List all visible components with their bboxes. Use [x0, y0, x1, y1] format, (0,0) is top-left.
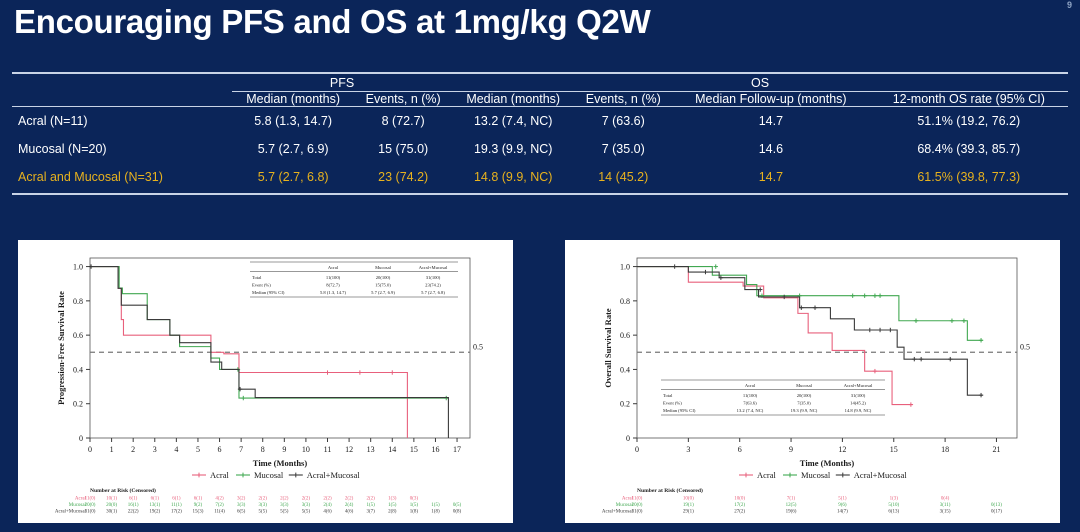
row-0-cell-5: 14.7 — [672, 107, 869, 136]
risk-value: 11(1) — [171, 503, 182, 508]
os-kaplan-meier-chart: 00.20.40.60.81.0036912151821Time (Months… — [565, 240, 1060, 523]
risk-value: 13(1) — [149, 503, 160, 508]
risk-value: 5(5) — [302, 510, 311, 515]
risk-table-title: Number at Risk (Censored) — [637, 487, 703, 494]
risk-value: 2(8) — [388, 510, 397, 515]
x-tick-label: 11 — [324, 445, 332, 454]
risk-value: 2(2) — [367, 497, 376, 502]
risk-value: 1(3) — [890, 497, 899, 502]
risk-value: 6(1) — [129, 497, 138, 502]
risk-value: 9(2) — [194, 503, 203, 508]
risk-value: 17(2) — [171, 510, 182, 515]
risk-value: 17(2) — [734, 503, 745, 508]
risk-value: 16(1) — [128, 503, 139, 508]
risk-value: 12(5) — [786, 503, 797, 508]
row-2-cell-3: 14.8 (9.9, NC) — [452, 163, 574, 191]
y-tick-label: 0.2 — [620, 400, 630, 409]
risk-value: 6(13) — [888, 510, 899, 515]
x-axis-label: Time (Months) — [253, 458, 308, 468]
risk-value: 20(0) — [632, 503, 643, 508]
inset-cell: 7(35.0) — [797, 401, 811, 406]
x-tick-label: 9 — [789, 445, 793, 454]
risk-value: 0(3) — [410, 497, 419, 502]
y-tick-label: 1.0 — [620, 263, 630, 272]
inset-cell: 11(100) — [743, 393, 758, 398]
group-header-spacer — [12, 76, 232, 90]
median-reference-label: 0.5 — [1020, 342, 1030, 351]
inset-column-header: Acral — [745, 383, 756, 388]
inset-column-header: Acral+Mucosal — [844, 383, 873, 388]
risk-value: 5(1) — [838, 497, 847, 502]
row-2-cell-6: 61.5% (39.8, 77.3) — [870, 163, 1068, 191]
x-tick-label: 1 — [110, 445, 114, 454]
risk-value: 3(15) — [940, 510, 951, 515]
table-row: Acral (N=11) 5.8 (1.3, 14.7) 8 (72.7) 13… — [12, 107, 1068, 136]
risk-value: 30(1) — [106, 510, 117, 515]
row-0-cell-0: Acral (N=11) — [12, 107, 232, 136]
column-header-3: Median (months) — [452, 91, 574, 106]
legend-label-acral: Acral — [757, 470, 777, 480]
column-header-5: Median Follow-up (months) — [672, 91, 869, 106]
risk-value: 1(3) — [388, 497, 397, 502]
y-axis-label: Progression-Free Survival Rate — [56, 291, 66, 405]
x-tick-label: 8 — [261, 445, 265, 454]
x-tick-label: 17 — [453, 445, 461, 454]
risk-value: 6(1) — [151, 497, 160, 502]
results-table: PFS OS Median (months) Events, n (%) Med… — [12, 72, 1068, 195]
risk-value: 1(5) — [388, 503, 397, 508]
risk-value: 3(11) — [940, 503, 951, 508]
column-header-4: Events, n (%) — [574, 91, 672, 106]
row-0-cell-3: 13.2 (7.4, NC) — [452, 107, 574, 136]
inset-cell: 20(100) — [797, 393, 812, 398]
x-tick-label: 12 — [838, 445, 846, 454]
risk-value: 31(0) — [85, 510, 96, 515]
risk-value: 10(0) — [734, 497, 745, 502]
risk-value: 5(5) — [280, 510, 289, 515]
column-header-0 — [12, 91, 232, 106]
results-table-container: PFS OS Median (months) Events, n (%) Med… — [12, 72, 1068, 195]
risk-value: 20(0) — [106, 503, 117, 508]
y-tick-label: 0.6 — [620, 331, 630, 340]
row-2-cell-5: 14.7 — [672, 163, 869, 191]
inset-column-header: Acral — [328, 265, 339, 270]
column-header-2: Events, n (%) — [354, 91, 452, 106]
risk-value: 3(3) — [302, 503, 311, 508]
risk-value: 3(3) — [259, 503, 268, 508]
y-axis-label: Overall Survival Rate — [603, 308, 613, 388]
inset-row-label: Event (%) — [663, 401, 682, 406]
row-2-cell-0: Acral and Mucosal (N=31) — [12, 163, 232, 191]
x-tick-label: 7 — [239, 445, 243, 454]
risk-value: 4(6) — [323, 510, 332, 515]
risk-table-title: Number at Risk (Censored) — [90, 487, 156, 494]
risk-value: 10(1) — [106, 497, 117, 502]
risk-value: 7(2) — [215, 503, 224, 508]
risk-value: 1(5) — [431, 503, 440, 508]
risk-value: 6(5) — [237, 510, 246, 515]
risk-value: 5(5) — [259, 510, 268, 515]
risk-value: 19(1) — [683, 503, 694, 508]
y-tick-label: 0.4 — [73, 365, 83, 374]
risk-value: 3(3) — [237, 503, 246, 508]
table-row: Mucosal (N=20) 5.7 (2.7, 6.9) 15 (75.0) … — [12, 135, 1068, 163]
risk-value: 0(8) — [453, 510, 462, 515]
x-tick-label: 9 — [282, 445, 286, 454]
x-tick-label: 16 — [431, 445, 439, 454]
risk-value: 4(6) — [345, 510, 354, 515]
x-tick-label: 2 — [131, 445, 135, 454]
risk-value: 11(0) — [632, 497, 643, 502]
pfs-chart-svg: 00.20.40.60.81.0012345678910111213141516… — [18, 240, 513, 523]
inset-row-label: Total — [663, 393, 673, 398]
x-tick-label: 6 — [218, 445, 222, 454]
pfs-kaplan-meier-chart: 00.20.40.60.81.0012345678910111213141516… — [18, 240, 513, 523]
y-tick-label: 0.2 — [73, 400, 83, 409]
y-tick-label: 0.6 — [73, 331, 83, 340]
inset-cell: 15(75.0) — [375, 283, 391, 288]
inset-column-header: Acral+Mucosal — [419, 265, 448, 270]
risk-value: 19(6) — [786, 510, 797, 515]
risk-value: 0(13) — [991, 503, 1002, 508]
x-tick-label: 18 — [941, 445, 949, 454]
risk-value: 4(2) — [215, 497, 224, 502]
risk-value: 9(6) — [838, 503, 847, 508]
risk-value: 1(8) — [410, 510, 419, 515]
inset-cell: 20(100) — [376, 275, 391, 280]
x-axis-label: Time (Months) — [800, 458, 855, 468]
row-2-cell-1: 5.7 (2.7, 6.8) — [232, 163, 354, 191]
row-1-cell-1: 5.7 (2.7, 6.9) — [232, 135, 354, 163]
os-chart-svg: 00.20.40.60.81.0036912151821Time (Months… — [565, 240, 1060, 523]
x-tick-label: 14 — [388, 445, 396, 454]
risk-value: 29(1) — [683, 510, 694, 515]
risk-value: 1(8) — [431, 510, 440, 515]
column-header-1: Median (months) — [232, 91, 354, 106]
group-header-row: PFS OS — [12, 76, 1068, 90]
y-tick-label: 0.8 — [73, 297, 83, 306]
row-1-cell-3: 19.3 (9.9, NC) — [452, 135, 574, 163]
x-tick-label: 0 — [88, 445, 92, 454]
y-tick-label: 0.8 — [620, 297, 630, 306]
risk-value: 1(5) — [367, 503, 376, 508]
results-table-body: PFS OS Median (months) Events, n (%) Med… — [12, 73, 1068, 194]
risk-value: 31(0) — [632, 510, 643, 515]
y-tick-label: 0.4 — [620, 365, 630, 374]
y-tick-label: 0 — [79, 434, 83, 443]
row-1-cell-5: 14.6 — [672, 135, 869, 163]
table-bottom-rule — [12, 191, 1068, 194]
legend-label-combined: Acral+Mucosal — [307, 470, 361, 480]
inset-row-label: Event (%) — [252, 283, 271, 288]
x-tick-label: 10 — [302, 445, 310, 454]
risk-value: 2(2) — [280, 497, 289, 502]
risk-value: 2(4) — [345, 503, 354, 508]
risk-value: 0(4) — [941, 497, 950, 502]
x-tick-label: 3 — [686, 445, 690, 454]
risk-value: 5(10) — [888, 503, 899, 508]
column-header-6: 12-month OS rate (95% CI) — [870, 91, 1068, 106]
row-1-cell-2: 15 (75.0) — [354, 135, 452, 163]
slide-number: 9 — [1067, 0, 1072, 10]
row-1-cell-4: 7 (35.0) — [574, 135, 672, 163]
risk-value: 6(1) — [194, 497, 203, 502]
risk-row-label: Acral+Mucosal — [602, 510, 634, 515]
x-tick-label: 3 — [153, 445, 157, 454]
legend-label-mucosal: Mucosal — [801, 470, 831, 480]
risk-value: 27(2) — [734, 510, 745, 515]
inset-column-header: Mucosal — [375, 265, 392, 270]
row-1-cell-0: Mucosal (N=20) — [12, 135, 232, 163]
row-0-cell-1: 5.8 (1.3, 14.7) — [232, 107, 354, 136]
inset-cell: 23(74.2) — [425, 283, 441, 288]
risk-value: 22(2) — [128, 510, 139, 515]
group-header-os: OS — [452, 76, 1068, 90]
y-tick-label: 0 — [626, 434, 630, 443]
y-tick-label: 1.0 — [73, 263, 83, 272]
row-0-cell-4: 7 (63.6) — [574, 107, 672, 136]
risk-value: 3(2) — [237, 497, 246, 502]
inset-column-header: Mucosal — [796, 383, 813, 388]
inset-cell: 31(100) — [426, 275, 441, 280]
inset-cell: 7(63.6) — [743, 401, 757, 406]
risk-value: 15(3) — [193, 510, 204, 515]
row-1-cell-6: 68.4% (39.3, 85.7) — [870, 135, 1068, 163]
column-header-row: Median (months) Events, n (%) Median (mo… — [12, 91, 1068, 106]
inset-row-label: Median (95% CI) — [252, 290, 285, 295]
x-tick-label: 15 — [890, 445, 898, 454]
risk-value: 14(7) — [837, 510, 848, 515]
inset-row-label: Median (95% CI) — [663, 408, 696, 413]
risk-value: 20(0) — [85, 503, 96, 508]
risk-row-label: Acral+Mucosal — [55, 510, 87, 515]
legend-label-acral: Acral — [210, 470, 230, 480]
x-tick-label: 21 — [992, 445, 1000, 454]
inset-row-label: Total — [252, 275, 262, 280]
risk-value: 1(5) — [410, 503, 419, 508]
risk-value: 7(1) — [787, 497, 796, 502]
legend-label-combined: Acral+Mucosal — [854, 470, 908, 480]
x-tick-label: 15 — [410, 445, 418, 454]
inset-cell: 8(72.7) — [326, 283, 340, 288]
page-title: Encouraging PFS and OS at 1mg/kg Q2W — [14, 3, 650, 41]
slide-root: 9 Encouraging PFS and OS at 1mg/kg Q2W P… — [0, 0, 1080, 532]
x-tick-label: 12 — [345, 445, 353, 454]
risk-value: 0(17) — [991, 510, 1002, 515]
x-tick-label: 5 — [196, 445, 200, 454]
legend-label-mucosal: Mucosal — [254, 470, 284, 480]
risk-value: 2(2) — [259, 497, 268, 502]
risk-value: 2(2) — [345, 497, 354, 502]
inset-cell: 14(45.2) — [850, 401, 866, 406]
x-tick-label: 6 — [738, 445, 742, 454]
inset-cell: 11(100) — [326, 275, 341, 280]
inset-cell: 31(100) — [851, 393, 866, 398]
table-row-highlighted: Acral and Mucosal (N=31) 5.7 (2.7, 6.8) … — [12, 163, 1068, 191]
row-2-cell-4: 14 (45.2) — [574, 163, 672, 191]
x-tick-label: 13 — [367, 445, 375, 454]
risk-value: 19(2) — [149, 510, 160, 515]
risk-value: 3(7) — [367, 510, 376, 515]
group-header-pfs: PFS — [232, 76, 452, 90]
risk-value: 0(5) — [453, 503, 462, 508]
risk-value: 2(2) — [302, 497, 311, 502]
risk-value: 3(3) — [280, 503, 289, 508]
row-0-cell-2: 8 (72.7) — [354, 107, 452, 136]
median-reference-label: 0.5 — [473, 342, 483, 351]
risk-value: 11(4) — [214, 510, 225, 515]
row-2-cell-2: 23 (74.2) — [354, 163, 452, 191]
risk-value: 2(4) — [323, 503, 332, 508]
risk-value: 6(1) — [172, 497, 181, 502]
risk-value: 10(0) — [683, 497, 694, 502]
risk-value: 11(0) — [85, 497, 96, 502]
row-0-cell-6: 51.1% (19.2, 76.2) — [870, 107, 1068, 136]
x-tick-label: 0 — [635, 445, 639, 454]
risk-value: 2(2) — [323, 497, 332, 502]
x-tick-label: 4 — [174, 445, 178, 454]
